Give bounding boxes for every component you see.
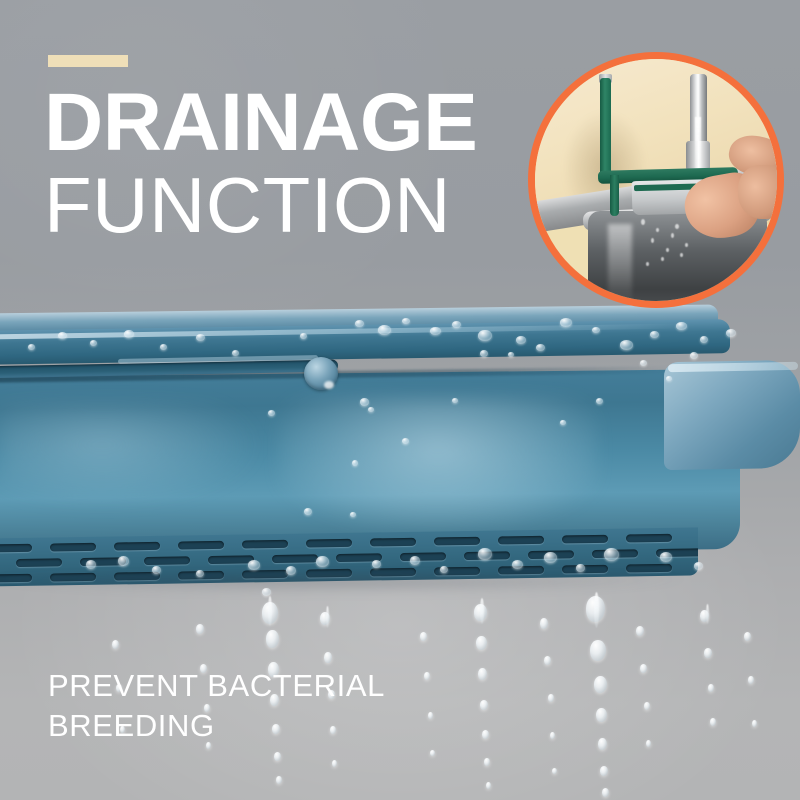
falling-water-droplet [548,694,554,702]
drainage-slot [434,537,480,546]
falling-water-droplet [262,602,278,624]
headline-line-1: DRAINAGE [44,84,564,162]
inset-water-drip [680,253,683,257]
falling-water-droplet [752,720,757,727]
falling-water-droplet [112,640,119,649]
inset-caddy-arm-down [610,175,619,216]
falling-water-droplet [600,766,608,776]
falling-water-droplet [276,776,282,784]
drainage-slot [208,555,254,564]
accent-bar [48,55,128,67]
headline-line-2: FUNCTION [44,166,564,246]
drainage-slot [80,557,126,566]
falling-water-droplet [266,630,279,648]
falling-water-droplet [430,750,435,756]
sink-caddy-in-use-photo [528,52,784,308]
drainage-slot [562,565,608,574]
falling-water-droplet [196,624,204,634]
falling-water-droplet [596,708,607,722]
drainage-slot [272,554,318,563]
falling-water-droplet [598,738,607,750]
falling-water-droplet [590,640,606,661]
drainage-slot [114,542,160,551]
inset-water-drip [685,243,688,247]
inset-hand-right [738,165,784,218]
drainage-slot [16,558,62,567]
drainage-slot [434,567,480,576]
falling-water-droplet [478,668,487,680]
blue-telescopic-sink-drainer [0,305,800,605]
falling-water-droplet [744,632,751,641]
inset-water-jet [695,117,701,170]
drainage-slot [498,566,544,575]
basin-sheen [278,397,598,529]
falling-water-droplet [594,676,607,693]
falling-water-droplet [274,752,281,761]
falling-water-droplet [544,656,551,665]
tagline-line-1: PREVENT BACTERIAL [48,666,468,706]
drainage-slot [400,552,446,561]
tagline-line-2: BREEDING [48,706,468,746]
product-marketing-poster: DRAINAGE FUNCTION PREVENT BACTERIAL BREE… [0,0,800,800]
falling-water-droplet [474,604,487,621]
product-cast-shadow [0,577,688,593]
drainage-slot [562,535,608,544]
drainage-slot [336,553,382,562]
drainage-slot [626,534,672,543]
falling-water-droplet [320,612,330,625]
falling-water-droplet [484,758,490,766]
water-stream [706,604,709,624]
drainage-slot [528,550,574,559]
drainage-slot [0,544,32,553]
tagline: PREVENT BACTERIAL BREEDING [48,666,468,745]
falling-water-droplet [704,648,712,658]
drainage-slot [370,538,416,547]
falling-water-droplet [550,732,555,739]
drainage-slot [370,568,416,577]
falling-water-droplet [644,702,650,710]
falling-water-droplet [332,760,337,767]
falling-water-droplet [540,618,548,629]
falling-water-droplet [700,610,709,622]
inset-caddy-arm-left [600,78,611,175]
inset-water-drip [671,233,674,238]
falling-water-droplet [420,632,427,641]
inset-scene [535,59,777,301]
falling-water-droplet [476,636,487,650]
drainage-slot [498,536,544,545]
falling-water-droplet [480,700,488,710]
drainage-slot [306,539,352,548]
drainage-slot [144,556,190,565]
falling-water-droplet [636,626,644,636]
falling-water-droplet [486,782,491,789]
drainage-slot [178,541,224,550]
product-end-cap [664,360,800,470]
falling-water-droplet [640,664,647,673]
falling-water-droplet [748,676,754,684]
page-title: DRAINAGE FUNCTION [44,84,564,245]
falling-water-droplet [710,718,716,726]
falling-water-droplet [324,652,332,663]
pivot-knob-highlight [324,381,334,389]
falling-water-droplet [708,684,714,692]
drainage-slot [626,564,672,573]
water-stream [326,606,329,628]
drainage-slot [50,543,96,552]
falling-water-droplet [646,740,651,747]
inset-sink-sheen [608,224,632,306]
drainage-slot [464,551,510,560]
falling-water-droplet [482,730,489,739]
drainage-slot [656,548,698,557]
drainage-slot [242,540,288,549]
inset-water-drip [666,248,669,252]
drainage-slot [592,549,638,558]
basin-sheen-left [0,405,258,505]
falling-water-droplet [602,788,609,797]
falling-water-droplet [552,768,557,774]
